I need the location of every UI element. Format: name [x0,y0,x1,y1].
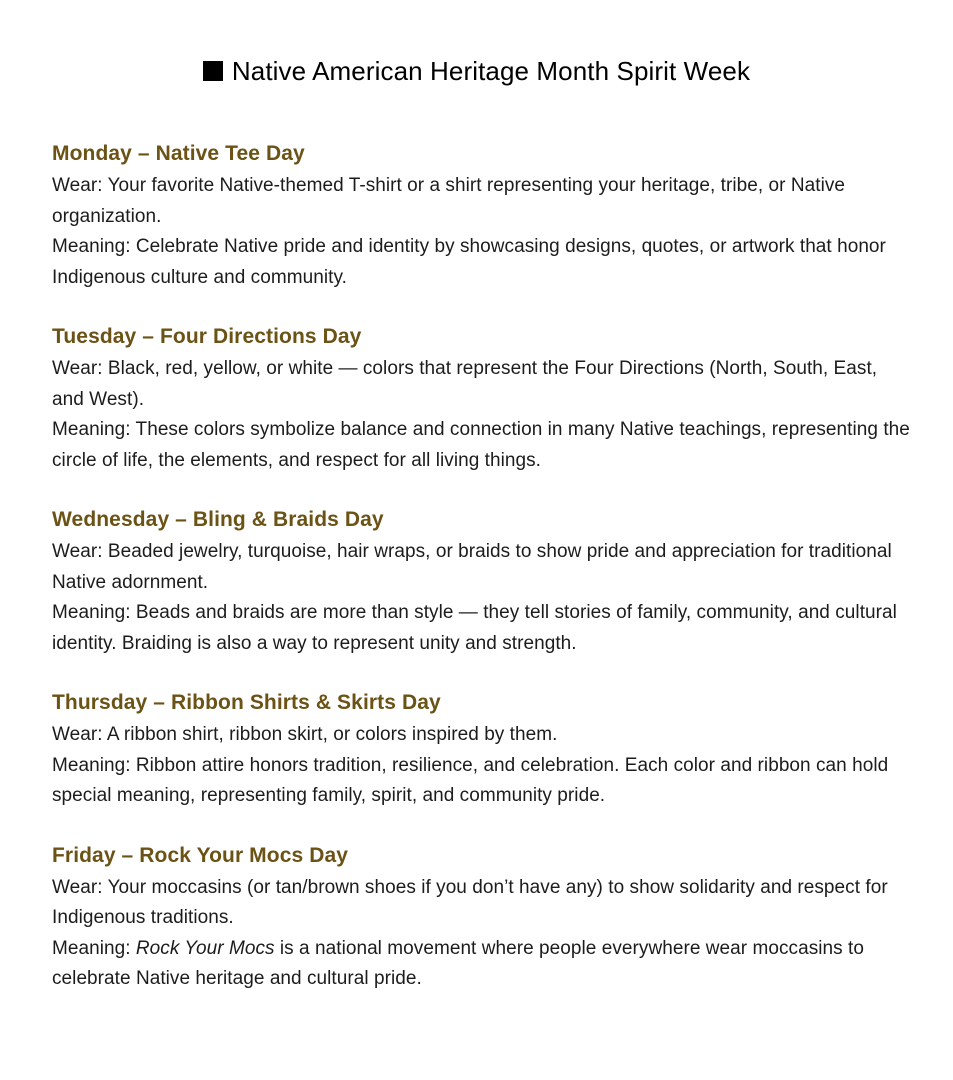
day-meaning-friday-prefix: Meaning: [52,938,136,959]
day-meaning-tuesday: Meaning: These colors symbolize balance … [52,415,910,476]
day-meaning-monday: Meaning: Celebrate Native pride and iden… [52,232,910,293]
day-wear-friday: Wear: Your moccasins (or tan/brown shoes… [52,873,910,934]
day-meaning-friday-emphasis: Rock Your Mocs [136,938,275,959]
day-meaning-wednesday: Meaning: Beads and braids are more than … [52,598,910,659]
day-heading-thursday: Thursday – Ribbon Shirts & Skirts Day [52,689,910,717]
day-wear-monday: Wear: Your favorite Native-themed T-shir… [52,171,910,232]
page-title-text: Native American Heritage Month Spirit We… [232,56,750,86]
black-square-tofu-icon [203,61,223,81]
day-wear-wednesday: Wear: Beaded jewelry, turquoise, hair wr… [52,537,910,598]
day-meaning-friday: Meaning: Rock Your Mocs is a national mo… [52,934,910,995]
day-wear-thursday: Wear: A ribbon shirt, ribbon skirt, or c… [52,720,910,751]
page-title: Native American Heritage Month Spirit We… [0,54,953,88]
day-heading-wednesday: Wednesday – Bling & Braids Day [52,506,910,534]
day-section-friday: Friday – Rock Your Mocs Day Wear: Your m… [52,842,910,995]
day-meaning-thursday: Meaning: Ribbon attire honors tradition,… [52,751,910,812]
day-section-monday: Monday – Native Tee Day Wear: Your favor… [52,140,910,293]
document-body: Monday – Native Tee Day Wear: Your favor… [52,140,910,995]
day-section-tuesday: Tuesday – Four Directions Day Wear: Blac… [52,323,910,476]
day-heading-friday: Friday – Rock Your Mocs Day [52,842,910,870]
day-wear-tuesday: Wear: Black, red, yellow, or white — col… [52,354,910,415]
document-page: Native American Heritage Month Spirit We… [0,0,953,1080]
day-heading-monday: Monday – Native Tee Day [52,140,910,168]
day-heading-tuesday: Tuesday – Four Directions Day [52,323,910,351]
day-section-wednesday: Wednesday – Bling & Braids Day Wear: Bea… [52,506,910,659]
day-section-thursday: Thursday – Ribbon Shirts & Skirts Day We… [52,689,910,812]
